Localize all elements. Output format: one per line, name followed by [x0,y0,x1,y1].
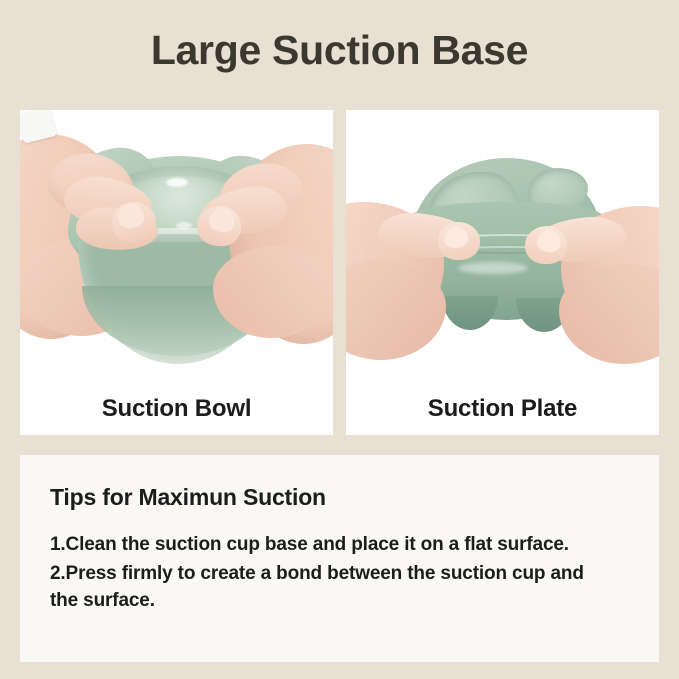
panel-suction-plate: Suction Plate [346,110,659,435]
suction-bowl-illustration [20,110,333,382]
plate-highlight [458,262,528,274]
suction-bowl-photo [20,110,333,382]
tips-line-1: 1.Clean the suction cup base and place i… [50,532,610,559]
bowl-highlight-upper [166,178,188,187]
suction-plate-illustration [346,110,659,382]
plate-suction-cup-left [442,296,498,330]
caption-suction-bowl: Suction Bowl [20,382,333,435]
infographic-page: Large Suction Base [0,0,679,679]
tips-line-2: 2.Press firmly to create a bond between … [50,561,610,615]
right-hand-knuckles [213,246,333,338]
tips-card: Tips for Maximun Suction 1.Clean the suc… [20,455,659,662]
suction-plate-photo [346,110,659,382]
caption-suction-plate: Suction Plate [346,382,659,435]
panel-suction-bowl: Suction Bowl [20,110,333,435]
product-panels: Suction Bowl [20,110,659,435]
page-title: Large Suction Base [0,28,679,73]
tips-heading: Tips for Maximun Suction [50,485,629,510]
